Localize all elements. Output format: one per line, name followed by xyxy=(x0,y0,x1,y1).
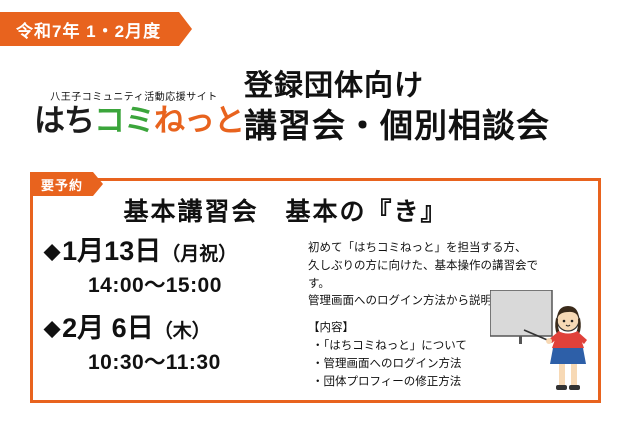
schedule-item: ◆2月 6日（木） 10:30〜11:30 xyxy=(44,313,304,376)
session-title: 基本講習会 基本の『き』 xyxy=(0,192,571,228)
schedule-date-note: （月祝） xyxy=(161,244,237,265)
diamond-bullet-icon: ◆ xyxy=(44,317,60,340)
schedule-date-note: （木） xyxy=(154,321,211,342)
schedule-date-row: ◆2月 6日（木） xyxy=(44,313,304,344)
site-logo-subtitle: 八王子コミュニティ活動応援サイト xyxy=(34,88,234,103)
page-title-line1: 登録団体向け xyxy=(244,68,550,105)
schedule-item: ◆1月13日（月祝） 14:00〜15:00 xyxy=(44,236,304,299)
page-title: 登録団体向け 講習会・個別相談会 xyxy=(244,68,550,147)
site-logo-title: はちコミねっと xyxy=(34,104,234,138)
site-logo-part1: はち xyxy=(34,103,94,138)
description-line-2: 久しぶりの方に向けた、基本操作の講習会です。 xyxy=(308,258,540,294)
period-ribbon: 令和7年 1・2月度 xyxy=(0,12,179,46)
site-logo-part2: コミ xyxy=(94,103,154,138)
schedule-date: 1月13日 xyxy=(62,236,161,266)
instructor-illustration xyxy=(490,290,600,395)
diamond-bullet-icon: ◆ xyxy=(44,240,60,263)
description-line-1: 初めて「はちコミねっと」を担当する方、 xyxy=(308,240,540,258)
site-logo-part3: ねっと xyxy=(154,103,244,138)
schedule-date: 2月 6日 xyxy=(62,313,154,343)
schedule-time: 14:00〜15:00 xyxy=(88,269,304,299)
schedule-list: ◆1月13日（月祝） 14:00〜15:00 ◆2月 6日（木） 10:30〜1… xyxy=(44,236,304,390)
page-title-line2: 講習会・個別相談会 xyxy=(244,105,550,147)
flyer-page: 令和7年 1・2月度 八王子コミュニティ活動応援サイト はちコミねっと 登録団体… xyxy=(0,0,631,427)
site-logo: 八王子コミュニティ活動応援サイト はちコミねっと xyxy=(34,88,234,138)
schedule-time: 10:30〜11:30 xyxy=(88,346,304,376)
schedule-date-row: ◆1月13日（月祝） xyxy=(44,236,304,267)
reservation-required-label: 要予約 xyxy=(41,175,83,194)
period-ribbon-label: 令和7年 1・2月度 xyxy=(16,17,161,42)
